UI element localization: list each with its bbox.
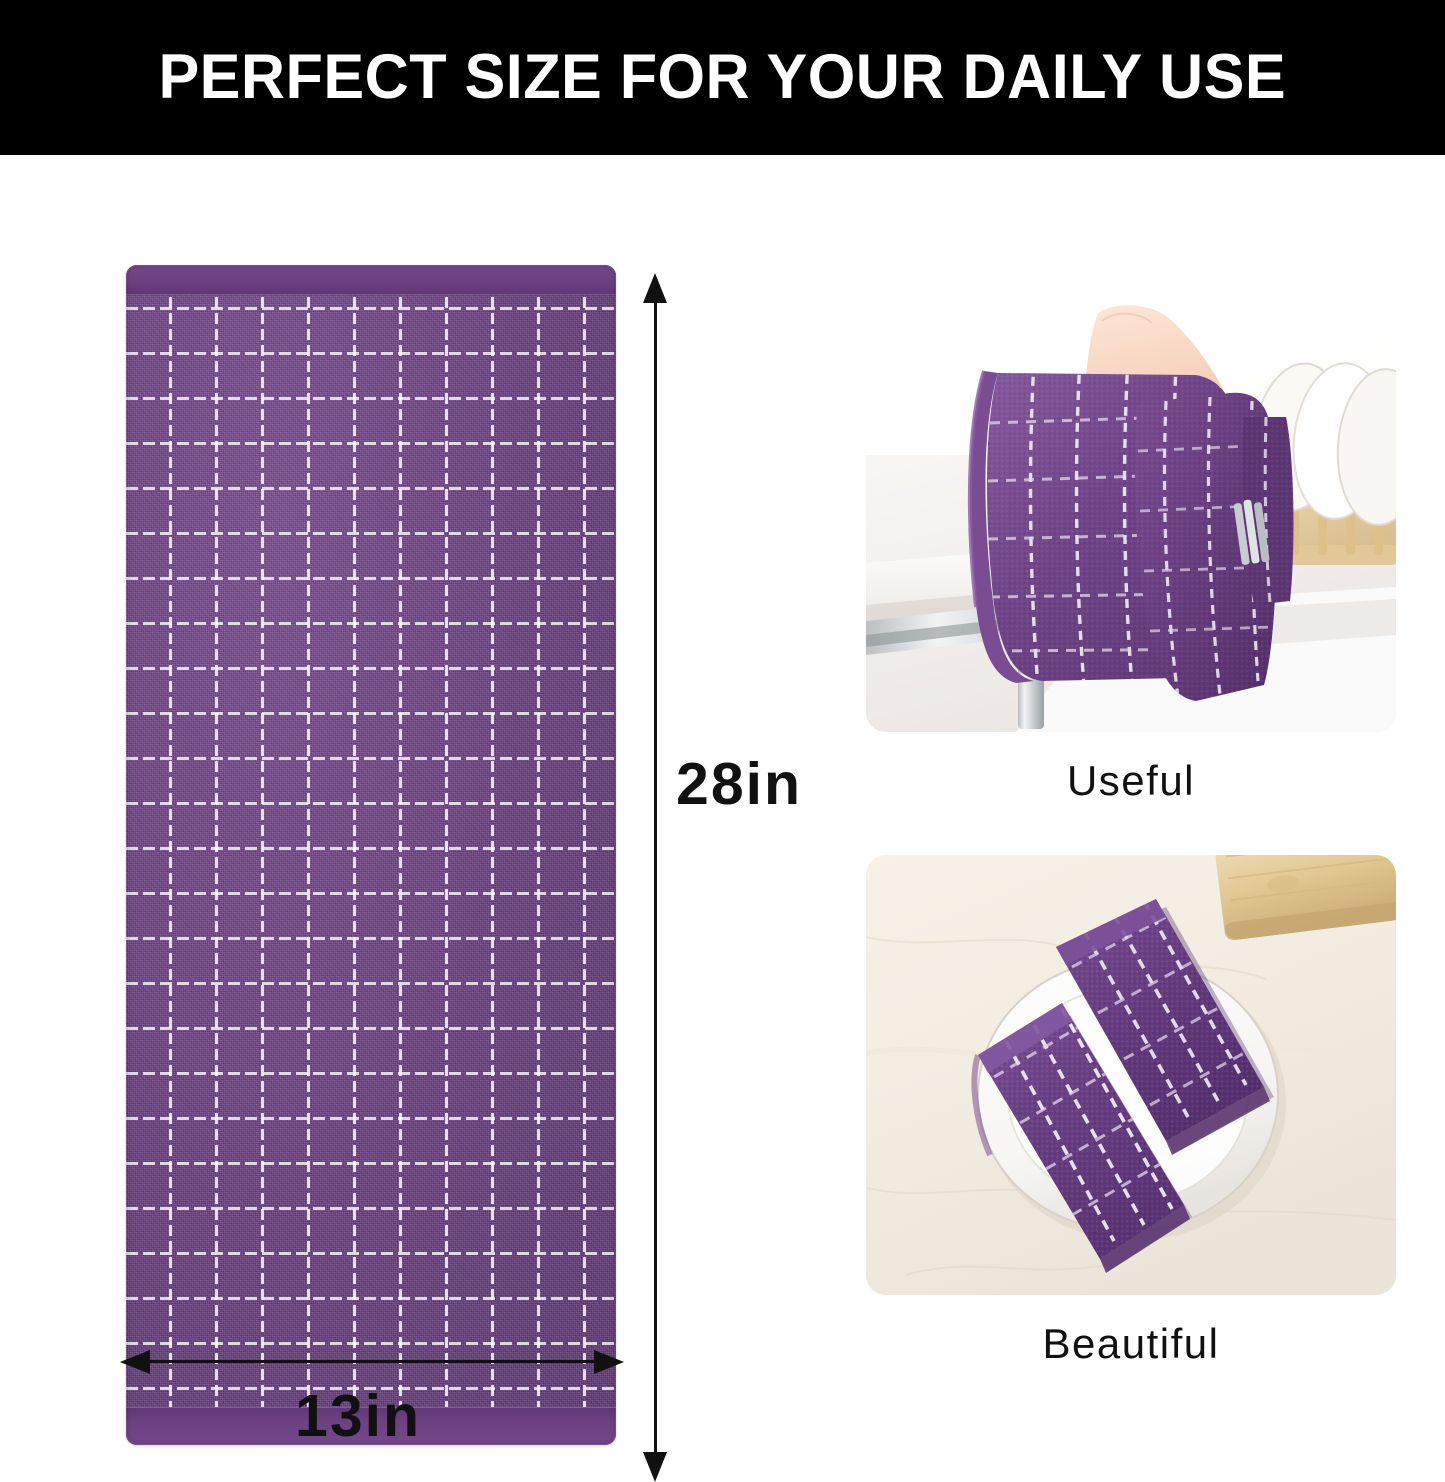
arrow-right-icon xyxy=(594,1350,624,1374)
photo-card-beautiful: Beautiful xyxy=(866,855,1396,1400)
width-dimension-label: 13in xyxy=(295,1387,421,1446)
height-dimension-label: 28in xyxy=(676,755,802,814)
towel-dimension-figure: 28in 13in xyxy=(0,155,700,1432)
header-banner: PERFECT SIZE FOR YOUR DAILY USE xyxy=(0,0,1445,155)
towel-hem-top xyxy=(126,265,616,295)
caption-useful: Useful xyxy=(866,760,1396,802)
photo-card-useful: Useful xyxy=(866,305,1396,845)
beautiful-scene-illustration xyxy=(866,855,1396,1295)
photo-useful xyxy=(866,305,1396,732)
arrow-down-icon xyxy=(643,1452,667,1482)
width-dimension-line xyxy=(134,1360,608,1363)
caption-beautiful: Beautiful xyxy=(866,1323,1396,1365)
useful-scene-illustration xyxy=(866,305,1396,732)
photo-beautiful xyxy=(866,855,1396,1295)
page-title: PERFECT SIZE FOR YOUR DAILY USE xyxy=(159,46,1287,109)
height-dimension-line xyxy=(654,286,657,1472)
product-towel-illustration xyxy=(126,265,616,1445)
towel-grid-horizontal-lines xyxy=(126,265,616,1445)
